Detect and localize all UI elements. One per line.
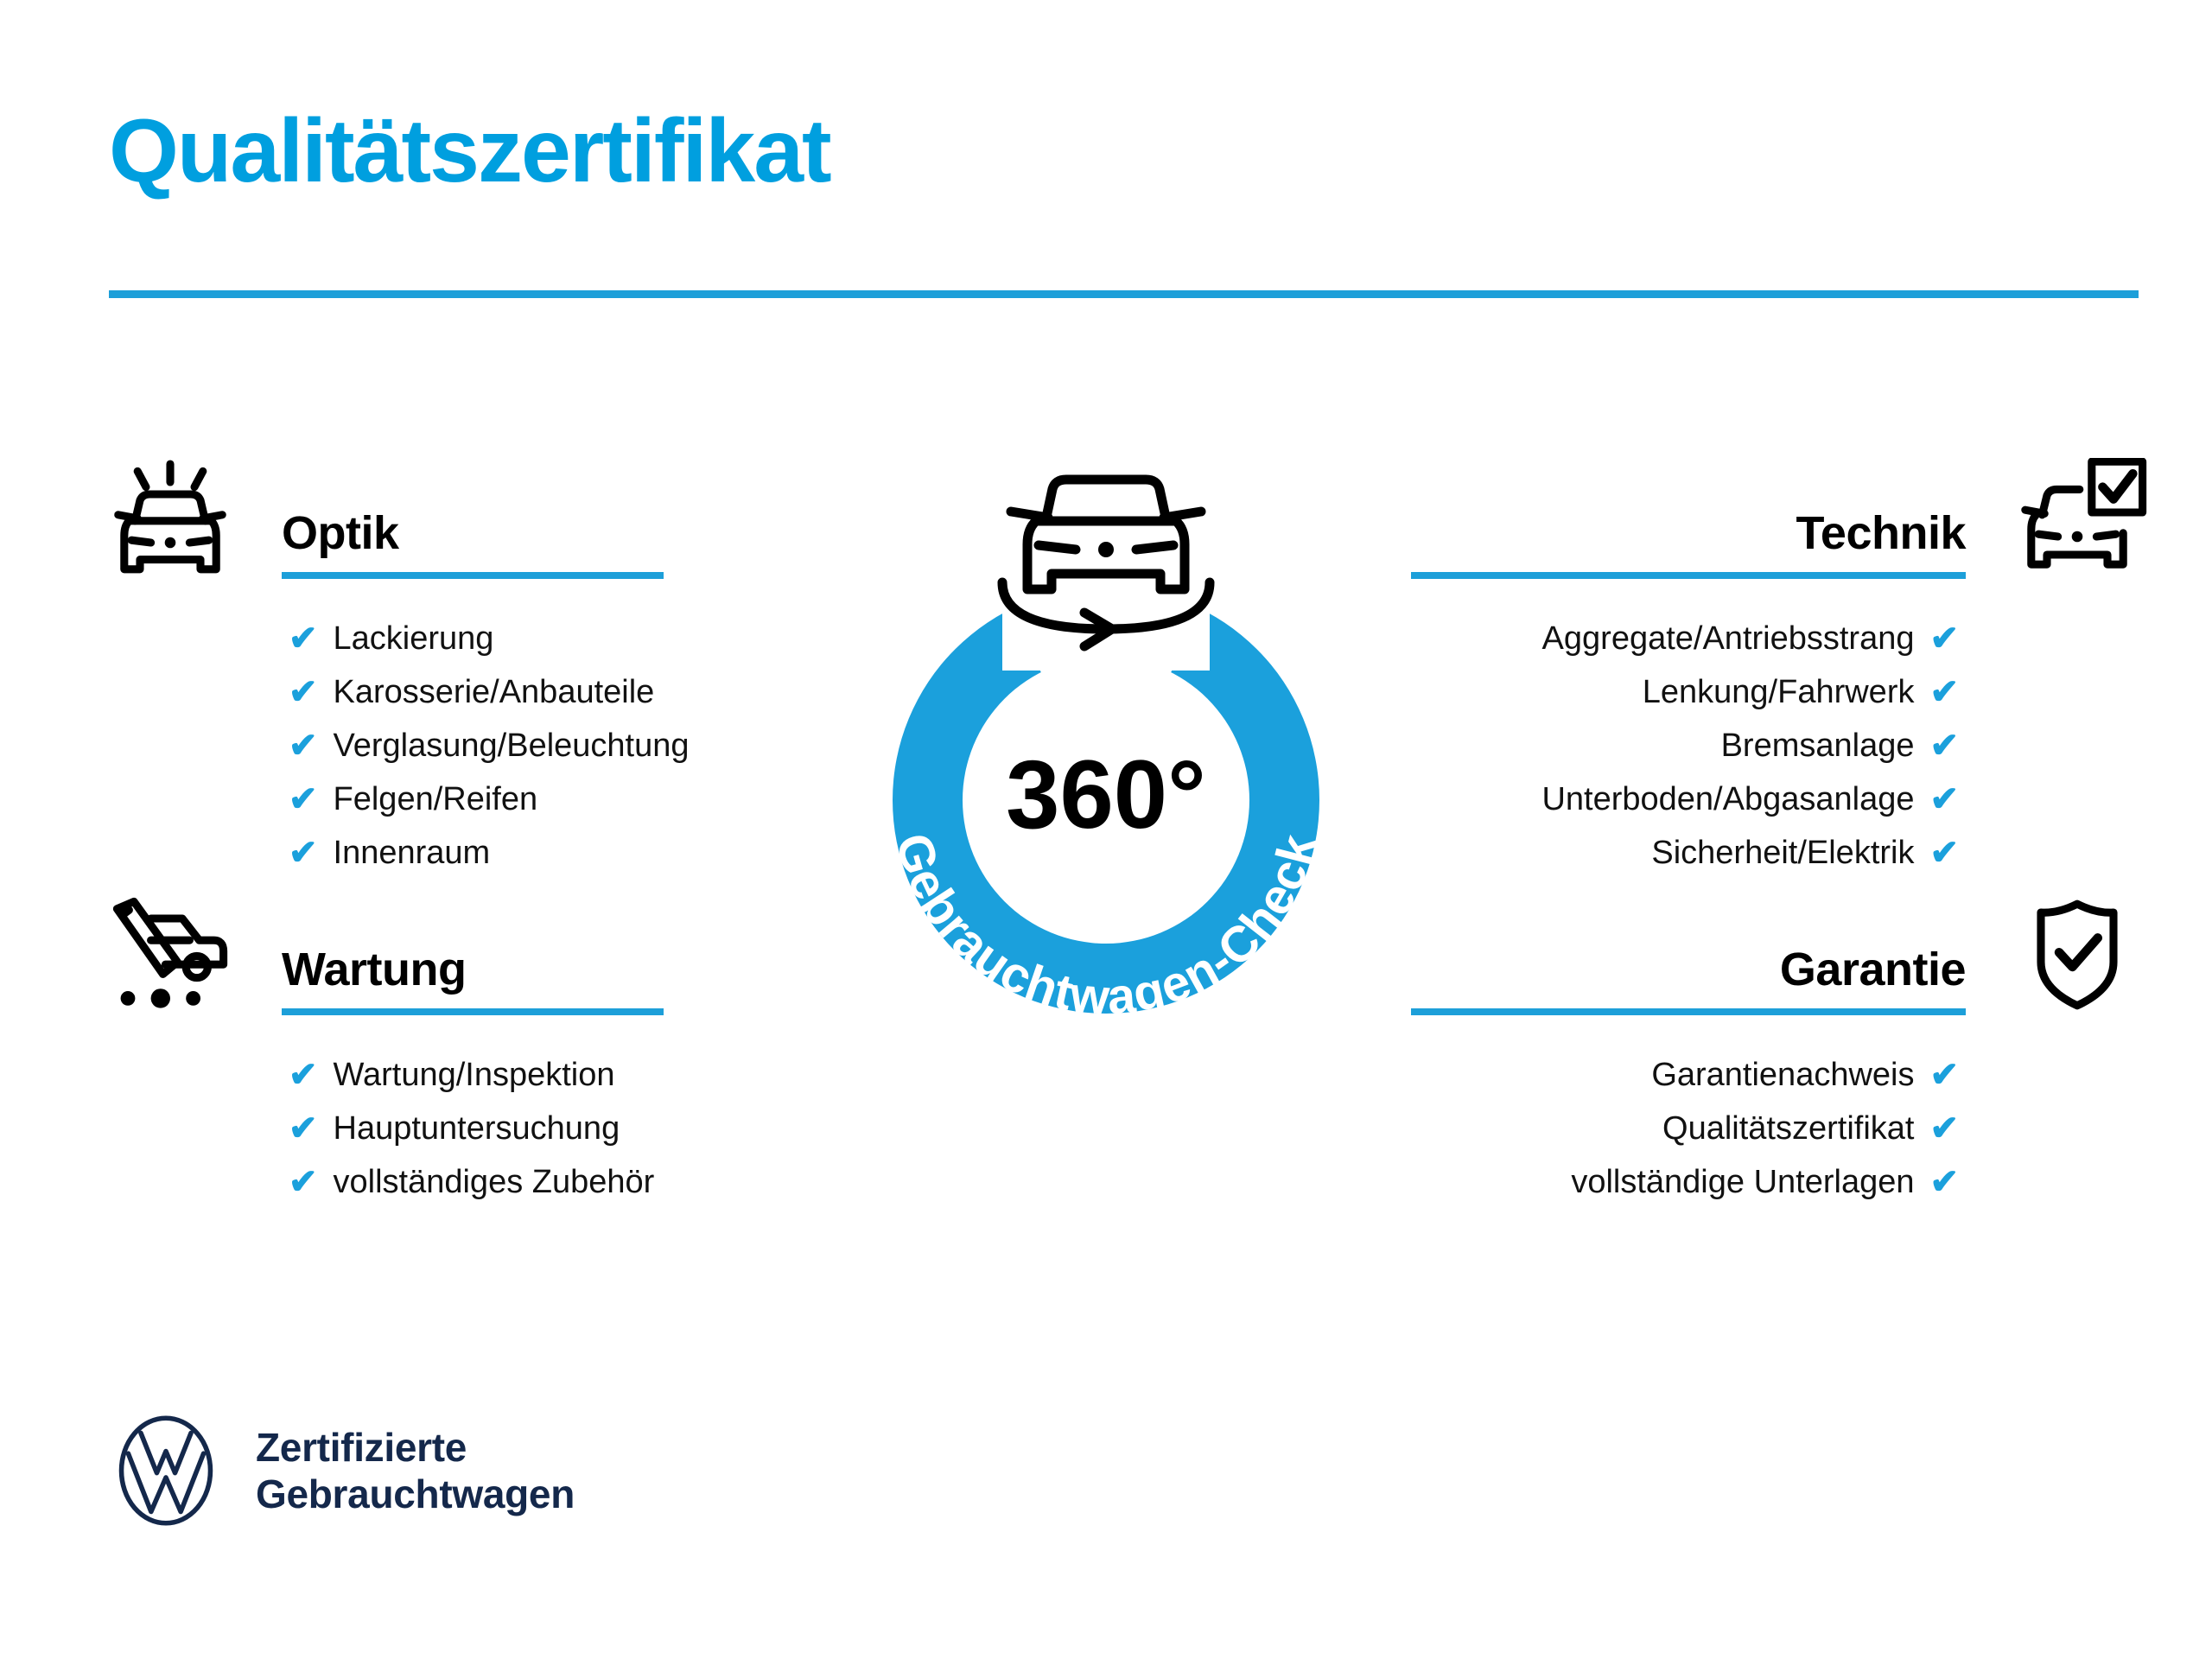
shield-check-icon [2004,894,2151,1015]
list-item: Qualitätszertifikat✔ [1385,1102,1959,1155]
page-header: Qualitätszertifikat [0,0,2212,311]
section-garantie: Garantie Garantienachweis✔ Qualitätszert… [1385,894,2139,1209]
list-item-label: Felgen/Reifen [334,783,538,816]
list-item-label: Bremsanlage [1721,729,1915,762]
check-icon: ✔ [289,728,318,763]
footer-line-1: Zertifizierte [256,1424,575,1471]
list-item: ✔vollständiges Zubehör [289,1155,826,1209]
list-item: ✔Felgen/Reifen [289,772,826,826]
check-icon: ✔ [1929,621,1959,656]
list-item: Aggregate/Antriebsstrang✔ [1385,612,1959,665]
list-item: Sicherheit/Elektrik✔ [1385,826,1959,880]
check-icon: ✔ [1929,782,1959,817]
list-item: Lenkung/Fahrwerk✔ [1385,665,1959,719]
check-icon: ✔ [1929,1111,1959,1146]
optik-check-list: ✔Lackierung ✔Karosserie/Anbauteile ✔Verg… [109,612,826,880]
list-item-label: Innenraum [334,836,491,869]
section-wartung-header: Wartung [109,894,826,1024]
list-item-label: Sicherheit/Elektrik [1651,836,1914,869]
list-item-label: Qualitätszertifikat [1662,1112,1914,1145]
check-icon: ✔ [1929,1165,1959,1199]
section-optik-header: Optik [109,458,826,588]
list-item-label: Garantienachweis [1651,1058,1914,1091]
section-technik-divider [1411,572,1966,579]
list-item: ✔Wartung/Inspektion [289,1048,826,1102]
garantie-check-list: Garantienachweis✔ Qualitätszertifikat✔ v… [1385,1048,2139,1209]
list-item-label: Karosserie/Anbauteile [334,676,655,709]
section-optik-divider [282,572,664,579]
footer-line-2: Gebrauchtwagen [256,1471,575,1517]
section-technik-header: Technik [1385,458,2139,588]
check-icon: ✔ [289,1111,318,1146]
car-front-shine-icon [97,458,244,579]
section-garantie-divider [1411,1008,1966,1015]
wartung-check-list: ✔Wartung/Inspektion ✔Hauptuntersuchung ✔… [109,1048,826,1209]
page-title: Qualitätszertifikat [109,102,830,200]
section-wartung-title: Wartung [282,943,466,996]
car-front-checkbox-icon [2004,458,2151,579]
list-item-label: Lackierung [334,622,494,655]
list-item: Unterboden/Abgasanlage✔ [1385,772,1959,826]
list-item: ✔Lackierung [289,612,826,665]
list-item: ✔Karosserie/Anbauteile [289,665,826,719]
section-wartung: Wartung ✔Wartung/Inspektion ✔Hauptunters… [109,894,826,1209]
360-gebrauchtwagen-check-badge: Gebrauchtwagen-Check 360° [825,429,1387,1085]
list-item-label: Verglasung/Beleuchtung [334,729,690,762]
list-item: Garantienachweis✔ [1385,1048,1959,1102]
section-wartung-divider [282,1008,664,1015]
check-icon: ✔ [289,836,318,870]
section-optik: Optik ✔Lackierung ✔Karosserie/Anbauteile… [109,458,826,880]
pencil-car-service-icon [97,894,244,1015]
list-item: ✔Hauptuntersuchung [289,1102,826,1155]
check-icon: ✔ [289,1165,318,1199]
list-item: ✔Verglasung/Beleuchtung [289,719,826,772]
check-icon: ✔ [1929,836,1959,870]
badge-center-text: 360° [1006,741,1206,849]
footer-text: Zertifizierte Gebrauchtwagen [256,1424,575,1518]
list-item-label: Unterboden/Abgasanlage [1541,783,1914,816]
list-item: Bremsanlage✔ [1385,719,1959,772]
list-item-label: vollständige Unterlagen [1571,1166,1914,1198]
footer-brand: Zertifizierte Gebrauchtwagen [109,1414,575,1528]
check-icon: ✔ [289,782,318,817]
check-icon: ✔ [1929,728,1959,763]
list-item-label: Aggregate/Antriebsstrang [1542,622,1915,655]
technik-check-list: Aggregate/Antriebsstrang✔ Lenkung/Fahrwe… [1385,612,2139,880]
list-item: ✔Innenraum [289,826,826,880]
list-item: vollständige Unterlagen✔ [1385,1155,1959,1209]
check-icon: ✔ [289,1058,318,1092]
check-icon: ✔ [289,675,318,709]
section-technik: Technik Aggregate/Antriebsstrang✔ Lenkun… [1385,458,2139,880]
section-technik-title: Technik [1796,506,1966,560]
check-icon: ✔ [1929,1058,1959,1092]
list-item-label: Hauptuntersuchung [334,1112,620,1145]
header-divider [109,290,2139,298]
check-icon: ✔ [289,621,318,656]
list-item-label: Lenkung/Fahrwerk [1643,676,1915,709]
check-icon: ✔ [1929,675,1959,709]
list-item-label: Wartung/Inspektion [334,1058,615,1091]
section-optik-title: Optik [282,506,399,560]
list-item-label: vollständiges Zubehör [334,1166,655,1198]
section-garantie-title: Garantie [1780,943,1966,996]
section-garantie-header: Garantie [1385,894,2139,1024]
vw-logo [109,1414,223,1528]
